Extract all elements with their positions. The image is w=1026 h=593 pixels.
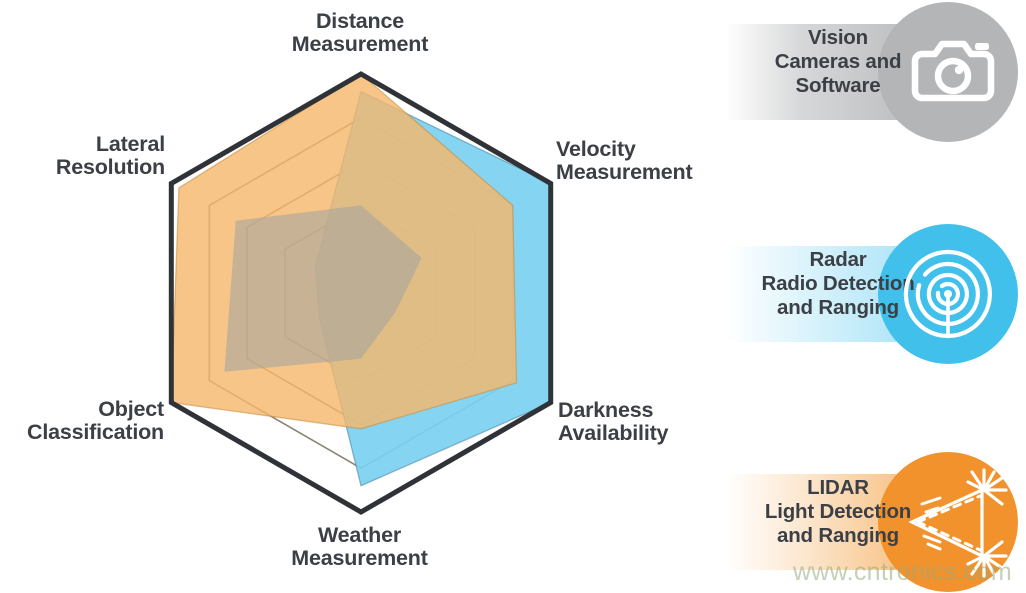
legend-item-radar[interactable]: Radar Radio Detection and Ranging — [700, 224, 1026, 364]
axis-label-distance-measurement: Distance Measurement — [255, 10, 465, 56]
legend-item-vision[interactable]: Vision Cameras and Software — [700, 2, 1026, 142]
watermark: www.cntronics.com — [793, 558, 1012, 587]
radar-series-layer — [171, 74, 550, 486]
radar-waves-icon — [878, 224, 1018, 364]
axis-label-object-classification: Object Classification — [0, 398, 164, 444]
axis-label-weather-measurement: Weather Measurement — [252, 524, 467, 570]
camera-icon — [878, 2, 1018, 142]
legend: Vision Cameras and Software Radar Radio … — [700, 0, 1026, 593]
sensor-comparison-infographic: Distance Measurement Velocity Measuremen… — [0, 0, 1026, 593]
radar-chart-svg — [0, 0, 700, 593]
axis-label-lateral-resolution: Lateral Resolution — [0, 133, 165, 179]
radar-chart: Distance Measurement Velocity Measuremen… — [0, 0, 700, 593]
